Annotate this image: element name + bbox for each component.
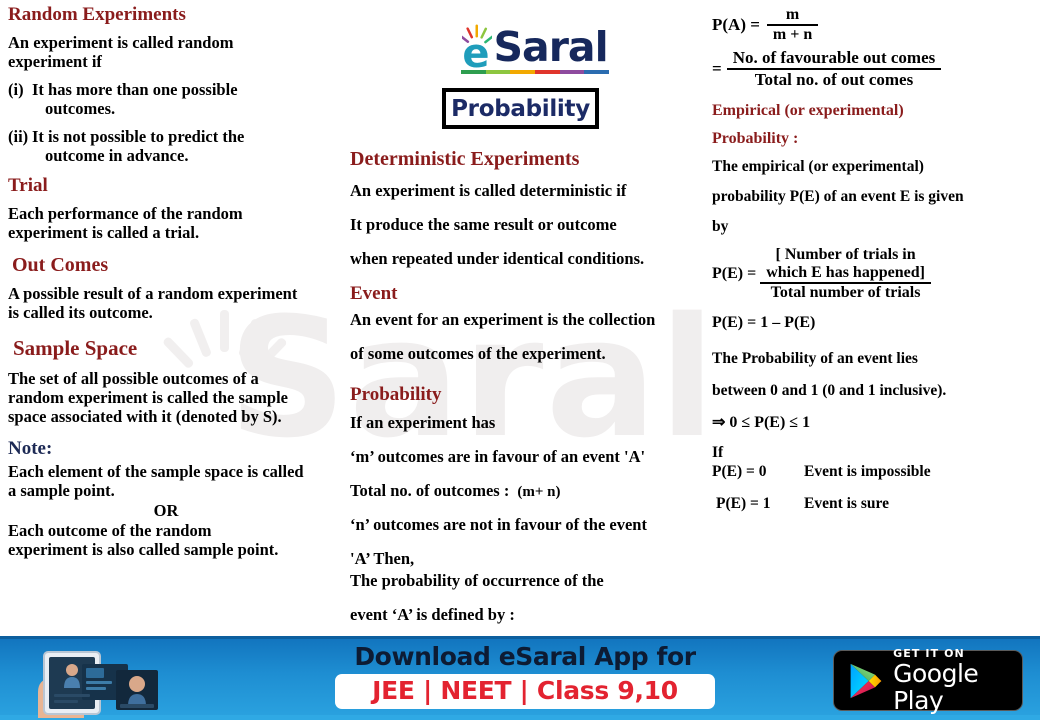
- middle-column: Deterministic Experiments An experiment …: [350, 0, 708, 625]
- list-item: (ii) It is not possible to predict the o…: [8, 127, 346, 165]
- probability-line7: event ‘A’ is defined by :: [350, 605, 708, 625]
- formula-favourable-fraction: No. of favourable out comes Total no. of…: [727, 48, 942, 90]
- formula-pe-numerator-line1: [ Number of trials in: [760, 246, 931, 264]
- content-area: Random Experiments An experiment is call…: [0, 0, 1040, 634]
- formula-favourable-denominator: Total no. of out comes: [727, 70, 942, 90]
- section-random-experiments: Random Experiments An experiment is call…: [8, 4, 346, 165]
- event-line2: of some outcomes of the experiment.: [350, 344, 708, 364]
- formula-pa-lhs: P(A) =: [712, 15, 760, 35]
- formula-favourable-numerator: No. of favourable out comes: [727, 48, 942, 70]
- sample-space-line1: The set of all possible outcomes of a: [8, 369, 346, 388]
- section-pe-range: P(E) = 1 – P(E) The Probability of an ev…: [712, 314, 1034, 432]
- section-event: Event An event for an experiment is the …: [350, 283, 708, 364]
- heading-empirical-line2: Probability :: [712, 130, 1034, 148]
- section-out-comes: Out Comes A possible result of a random …: [8, 254, 346, 322]
- right-column: P(A) = m m + n = No. of favourable out c…: [712, 0, 1034, 513]
- banner-text-block: Download eSaral App for JEE | NEET | Cla…: [335, 641, 715, 709]
- total-outcomes-label: Total no. of outcomes :: [350, 481, 509, 501]
- deterministic-line2: It produce the same result or outcome: [350, 215, 708, 235]
- heading-sample-space: Sample Space: [8, 336, 346, 361]
- out-comes-line1: A possible result of a random experiment: [8, 284, 346, 303]
- badge-store-name: Google Play: [893, 660, 1022, 714]
- formula-favourable-equals: =: [712, 59, 722, 79]
- sample-space-line2: random experiment is called the sample: [8, 388, 346, 407]
- section-empirical: Empirical (or experimental) Probability …: [712, 102, 1034, 236]
- probability-line2: ‘m’ outcomes are in favour of an event '…: [350, 447, 708, 467]
- banner-headline: Download eSaral App for: [335, 641, 715, 672]
- section-trial: Trial Each performance of the random exp…: [8, 175, 346, 242]
- total-outcomes-value: (m+ n): [517, 484, 560, 501]
- heading-deterministic-experiments: Deterministic Experiments: [350, 148, 708, 171]
- deterministic-line3: when repeated under identical conditions…: [350, 249, 708, 269]
- section-note: Note: Each element of the sample space i…: [8, 438, 346, 559]
- heading-note: Note:: [8, 438, 346, 460]
- random-experiments-line2: experiment if: [8, 52, 346, 71]
- event-line1: An event for an experiment is the collec…: [350, 310, 708, 330]
- formula-pe-empirical: P(E) = [ Number of trials in which E has…: [712, 246, 1034, 302]
- pe-case-0-condition: P(E) = 0: [712, 463, 800, 481]
- section-probability: Probability If an experiment has ‘m’ out…: [350, 384, 708, 625]
- pe-range-inequality: ⇒ 0 ≤ P(E) ≤ 1: [712, 412, 1034, 432]
- pe-range-line1: The Probability of an event lies: [712, 350, 1034, 368]
- tablet-illustration: [20, 640, 210, 718]
- section-deterministic-experiments: Deterministic Experiments An experiment …: [350, 148, 708, 269]
- empirical-line1: The empirical (or experimental): [712, 158, 1034, 176]
- formula-pa-fraction: m m + n: [767, 6, 818, 44]
- formula-pe-lhs: P(E) =: [712, 265, 756, 283]
- probability-line6: The probability of occurrence of the: [350, 571, 708, 591]
- note-or: OR: [8, 501, 346, 520]
- note-line2: a sample point.: [8, 481, 346, 500]
- pe-cases-if: If: [712, 444, 1034, 462]
- formula-favourable: = No. of favourable out comes Total no. …: [712, 48, 1034, 90]
- infographic-page: Saral e Saral: [0, 0, 1040, 720]
- formula-pe-denominator: Total number of trials: [760, 284, 931, 302]
- trial-line2: experiment is called a trial.: [8, 223, 346, 242]
- section-pe-cases: If P(E) = 0 Event is impossible P(E) = 1…: [712, 444, 1034, 513]
- formula-pa-denominator: m + n: [767, 26, 818, 44]
- pe-range-line2: between 0 and 1 (0 and 1 inclusive).: [712, 382, 1034, 400]
- heading-empirical-line1: Empirical (or experimental): [712, 102, 1034, 120]
- banner-courses-pill: JEE | NEET | Class 9,10: [335, 674, 715, 709]
- formula-pa: P(A) = m m + n: [712, 6, 1034, 44]
- out-comes-line2: is called its outcome.: [8, 303, 346, 322]
- sample-space-line3: space associated with it (denoted by S).: [8, 407, 346, 426]
- google-play-icon: [847, 660, 883, 702]
- heading-probability: Probability: [350, 384, 708, 406]
- list-marker-ii: (ii): [8, 127, 32, 165]
- deterministic-line1: An experiment is called deterministic if: [350, 181, 708, 201]
- list-marker-i: (i): [8, 80, 32, 118]
- note-line1: Each element of the sample space is call…: [8, 462, 346, 481]
- probability-line4: ‘n’ outcomes are not in favour of the ev…: [350, 515, 708, 535]
- list-item-ii-line1: It is not possible to predict the: [32, 127, 346, 146]
- empirical-line2: probability P(E) of an event E is given: [712, 188, 1034, 206]
- list-item: (i) It has more than one possible outcom…: [8, 80, 346, 118]
- trial-line1: Each performance of the random: [8, 204, 346, 223]
- formula-pe-numerator-line2: which E has happened]: [760, 264, 931, 284]
- pe-case-1-condition: P(E) = 1: [712, 495, 800, 513]
- total-outcomes-row: Total no. of outcomes : (m+ n): [350, 481, 708, 501]
- empirical-line3: by: [712, 218, 1034, 236]
- pe-case-row: P(E) = 1 Event is sure: [712, 495, 1034, 513]
- note-line3: Each outcome of the random: [8, 521, 346, 540]
- probability-line5: 'A’ Then,: [350, 549, 708, 569]
- pe-case-1-description: Event is sure: [804, 495, 889, 513]
- formula-pa-numerator: m: [767, 6, 818, 26]
- list-item-ii-line2: outcome in advance.: [32, 146, 346, 165]
- heading-out-comes: Out Comes: [8, 254, 346, 277]
- heading-trial: Trial: [8, 175, 346, 197]
- banner-courses: JEE | NEET | Class 9,10: [345, 676, 705, 705]
- random-experiments-line1: An experiment is called random: [8, 33, 346, 52]
- heading-random-experiments: Random Experiments: [8, 4, 346, 26]
- pe-case-0-description: Event is impossible: [804, 463, 931, 481]
- formula-pe-fraction: [ Number of trials in which E has happen…: [760, 246, 931, 302]
- banner-top-strip: [0, 636, 1040, 639]
- list-item-i-line2: outcomes.: [32, 99, 346, 118]
- heading-event: Event: [350, 283, 708, 305]
- google-play-badge[interactable]: GET IT ON Google Play: [833, 650, 1023, 711]
- probability-line1: If an experiment has: [350, 413, 708, 433]
- formula-pe-complement: P(E) = 1 – P(E): [712, 314, 1034, 332]
- pe-case-row: P(E) = 0 Event is impossible: [712, 463, 1034, 481]
- note-line4: experiment is also called sample point.: [8, 540, 346, 559]
- list-item-i-line1: It has more than one possible: [32, 80, 346, 99]
- left-column: Random Experiments An experiment is call…: [8, 0, 346, 561]
- section-sample-space: Sample Space The set of all possible out…: [8, 336, 346, 426]
